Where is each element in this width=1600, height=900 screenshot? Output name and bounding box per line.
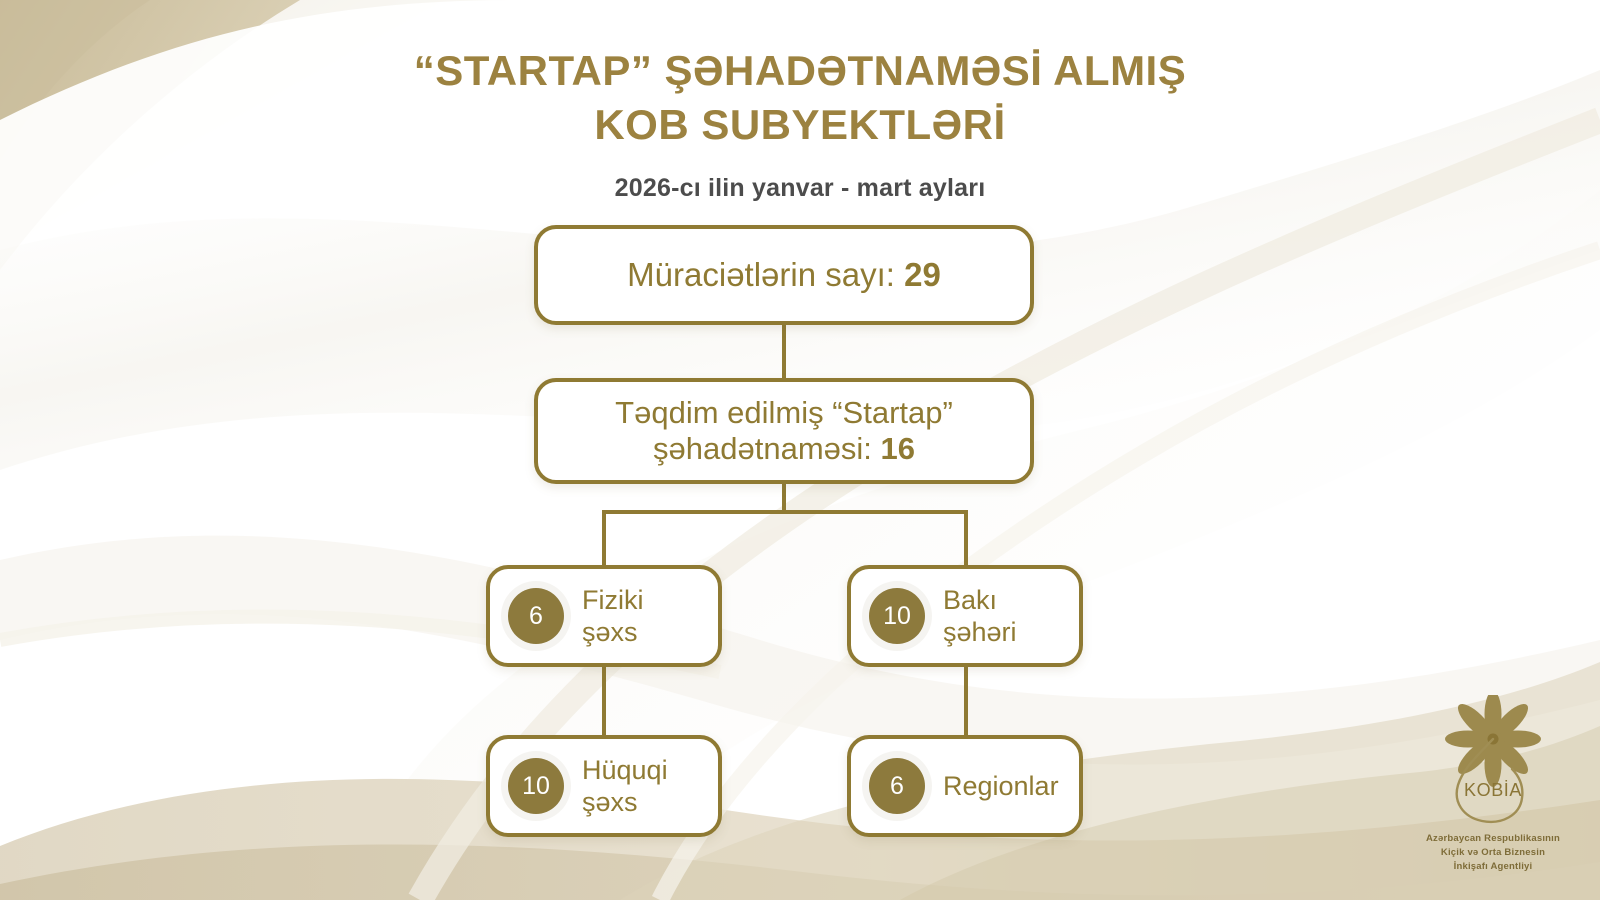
connector-split-bar (602, 510, 968, 514)
node-issued-value: 16 (881, 431, 915, 466)
page-title-line-1: “STARTAP” ŞƏHADƏTNAMƏSİ ALMIŞ (0, 44, 1600, 98)
node-applications-value: 29 (904, 256, 941, 293)
connector-baki-to-regionlar (964, 665, 968, 737)
connector-right-branch (964, 510, 968, 567)
kobia-flower-icon: KOBİA (1398, 695, 1588, 830)
node-issued-certificates: Təqdim edilmiş “Startap” şəhadətnaməsi: … (534, 378, 1034, 484)
node-issued-text: Təqdim edilmiş “Startap” şəhadətnaməsi: … (615, 395, 953, 467)
kobia-caption: Azərbaycan Respublikasının Kiçik və Orta… (1398, 832, 1588, 873)
label-fiziki-sexs: Fiziki şəxs (582, 584, 644, 649)
node-huquqi-sexs: 10 Hüquqi şəxs (486, 735, 722, 837)
connector-left-branch (602, 510, 606, 567)
node-fiziki-sexs: 6 Fiziki şəxs (486, 565, 722, 667)
kobia-wordmark: KOBİA (1464, 780, 1522, 800)
label-baki-seheri: Bakı şəhəri (943, 584, 1017, 649)
header: “STARTAP” ŞƏHADƏTNAMƏSİ ALMIŞ KOB SUBYEK… (0, 44, 1600, 203)
badge-fiziki-count: 6 (508, 588, 564, 644)
label-huquqi-sexs: Hüquqi şəxs (582, 754, 668, 819)
badge-baki-count: 10 (869, 588, 925, 644)
node-applications-text: Müraciətlərin sayı: 29 (627, 256, 941, 294)
connector-fiziki-to-huquqi (602, 665, 606, 737)
node-applications-label: Müraciətlərin sayı: (627, 256, 904, 293)
node-regionlar: 6 Regionlar (847, 735, 1083, 837)
badge-huquqi-count: 10 (508, 758, 564, 814)
badge-regionlar-count: 6 (869, 758, 925, 814)
connector-applications-to-issued (782, 323, 786, 380)
label-regionlar: Regionlar (943, 770, 1059, 802)
page-title-line-2: KOB SUBYEKTLƏRİ (0, 98, 1600, 152)
connector-issued-drop (782, 482, 786, 512)
page-subtitle: 2026-cı ilin yanvar - mart ayları (0, 174, 1600, 203)
node-baki-seheri: 10 Bakı şəhəri (847, 565, 1083, 667)
node-applications-count: Müraciətlərin sayı: 29 (534, 225, 1034, 325)
kobia-logo: KOBİA Azərbaycan Respublikasının Kiçik v… (1398, 695, 1588, 880)
